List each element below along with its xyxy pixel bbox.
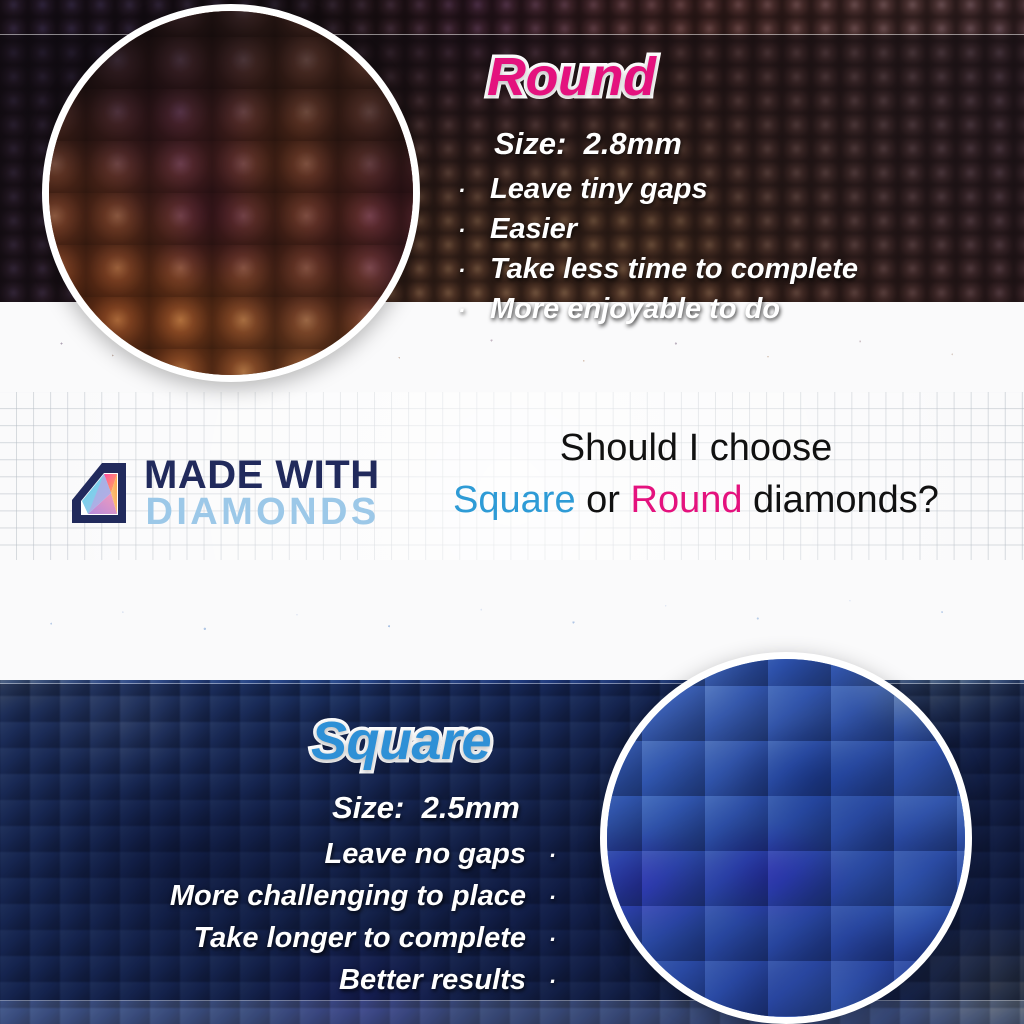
list-item: Leave no gaps · bbox=[170, 834, 556, 876]
question-or-word: or bbox=[576, 479, 631, 521]
bullet-icon: · bbox=[458, 251, 490, 290]
square-lens-color-overlay bbox=[600, 652, 972, 1024]
square-photo-panel: Square Size: 2.5mm Leave no gaps · More … bbox=[0, 560, 1024, 1024]
list-item-label: Leave tiny gaps bbox=[490, 170, 708, 209]
bullet-icon: · bbox=[526, 878, 556, 918]
square-magnifier-lens bbox=[600, 652, 972, 1024]
list-item-label: More challenging to place bbox=[170, 876, 526, 916]
square-benefits-list: Leave no gaps · More challenging to plac… bbox=[170, 834, 556, 1002]
diamond-gem-logo-mark-icon bbox=[68, 460, 130, 526]
square-title: Square bbox=[311, 710, 491, 772]
list-item: · Leave tiny gaps bbox=[458, 170, 858, 210]
square-size-label: Size: 2.5mm bbox=[332, 790, 520, 826]
list-item: · Take less time to complete bbox=[458, 250, 858, 290]
question-square-word: Square bbox=[453, 479, 576, 521]
question-round-word: Round bbox=[631, 479, 743, 521]
list-item: · Easier bbox=[458, 210, 858, 250]
round-lens-color-overlay bbox=[42, 4, 420, 382]
list-item: Better results · bbox=[170, 960, 556, 1002]
round-benefits-list: · Leave tiny gaps · Easier · Take less t… bbox=[458, 170, 858, 330]
round-magnifier-lens bbox=[42, 4, 420, 382]
bullet-icon: · bbox=[526, 920, 556, 960]
bullet-icon: · bbox=[458, 211, 490, 250]
list-item: Take longer to complete · bbox=[170, 918, 556, 960]
bullet-icon: · bbox=[458, 291, 490, 330]
list-item: More challenging to place · bbox=[170, 876, 556, 918]
list-item-label: Better results bbox=[339, 960, 526, 1000]
list-item-label: Take less time to complete bbox=[490, 250, 858, 289]
brand-logo[interactable]: MADE WITH DIAMONDS bbox=[68, 456, 380, 531]
list-item-label: Leave no gaps bbox=[325, 834, 526, 874]
question-line1: Should I choose bbox=[560, 427, 833, 469]
brand-logo-line2: DIAMONDS bbox=[144, 494, 380, 530]
brand-logo-line1: MADE WITH bbox=[144, 456, 380, 494]
round-title: Round bbox=[487, 46, 655, 108]
list-item-label: Easier bbox=[490, 210, 577, 249]
list-item-label: More enjoyable to do bbox=[490, 290, 780, 329]
round-size-label: Size: 2.8mm bbox=[494, 126, 682, 162]
question-tail: diamonds? bbox=[742, 479, 938, 521]
brand-logo-text: MADE WITH DIAMONDS bbox=[144, 456, 380, 531]
list-item: · More enjoyable to do bbox=[458, 290, 858, 330]
question-heading: Should I choose Square or Round diamonds… bbox=[416, 422, 976, 526]
bullet-icon: · bbox=[526, 836, 556, 876]
bullet-icon: · bbox=[526, 962, 556, 1002]
list-item-label: Take longer to complete bbox=[194, 918, 527, 958]
bottom-torn-edge-speckle bbox=[0, 584, 1024, 648]
bullet-icon: · bbox=[458, 171, 490, 210]
infographic-canvas: Round Size: 2.8mm · Leave tiny gaps · Ea… bbox=[0, 0, 1024, 1024]
